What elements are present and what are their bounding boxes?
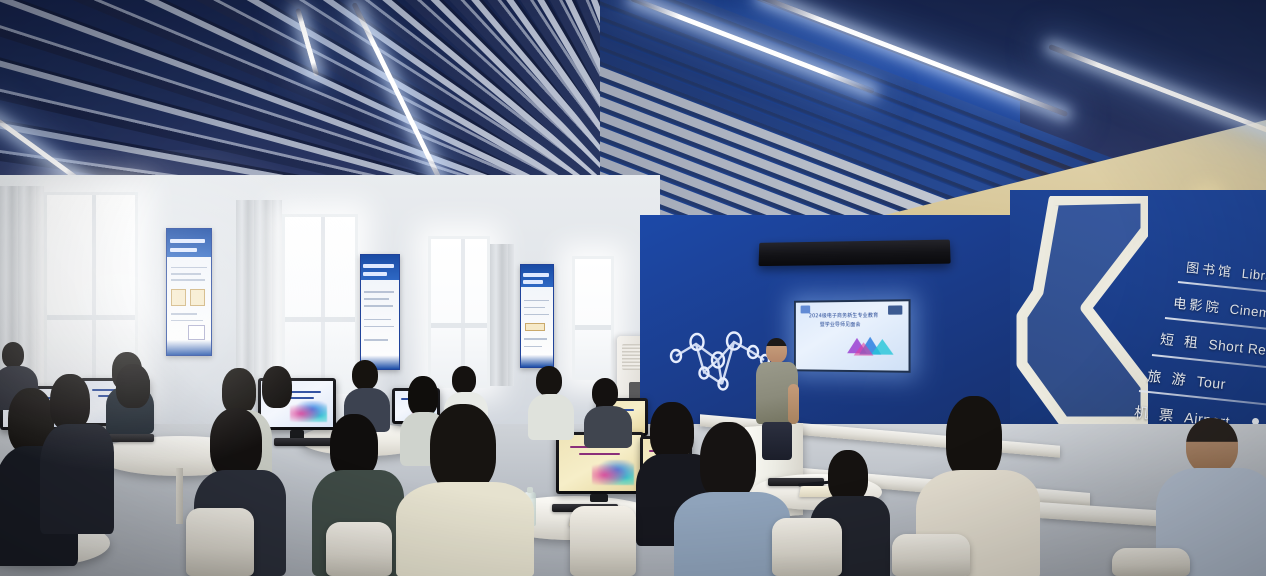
wall-service-label-en: Tour — [1196, 373, 1227, 392]
classroom-photo: 2024级电子商务新生专业教育 暨学业导师见面会 图书馆Library电影院Ci… — [0, 0, 1266, 576]
window — [282, 214, 358, 394]
poster-subtitle-bar — [170, 248, 197, 252]
poster-left — [166, 228, 212, 356]
chair — [570, 506, 636, 576]
wall-service-label-cn: 旅 游 — [1146, 369, 1189, 389]
poster-middle — [360, 254, 400, 370]
slide-title-line-1: 2024级电子商务新生专业教育 — [809, 311, 878, 319]
monitor-stand — [590, 494, 608, 502]
poster-right — [520, 264, 554, 368]
slide-badge — [888, 305, 902, 314]
chair — [1112, 548, 1190, 576]
soundbar-speaker — [759, 240, 951, 267]
window — [428, 236, 490, 388]
slide-title-line-2: 暨学业导师见面会 — [820, 321, 861, 328]
table-leg — [176, 468, 183, 524]
slide-artwork-icon — [835, 329, 901, 365]
chair — [186, 508, 254, 576]
presenter-arm — [788, 384, 799, 424]
chair — [772, 518, 842, 576]
poster-title-bar — [170, 239, 205, 243]
poster-title-bar — [523, 273, 549, 277]
poster-subtitle-bar — [363, 272, 387, 276]
presenter — [752, 338, 804, 458]
projection-screen: 2024级电子商务新生专业教育 暨学业导师见面会 — [794, 299, 911, 373]
poster-title-bar — [363, 264, 393, 268]
window — [572, 256, 614, 380]
presenter-head — [766, 338, 787, 363]
poster-subtitle-bar — [523, 280, 543, 284]
wall-service-label-cn: 机 票 — [1133, 405, 1177, 425]
presenter-legs — [762, 422, 792, 460]
chair — [326, 522, 392, 576]
curtain — [490, 244, 514, 386]
chair — [892, 534, 970, 576]
